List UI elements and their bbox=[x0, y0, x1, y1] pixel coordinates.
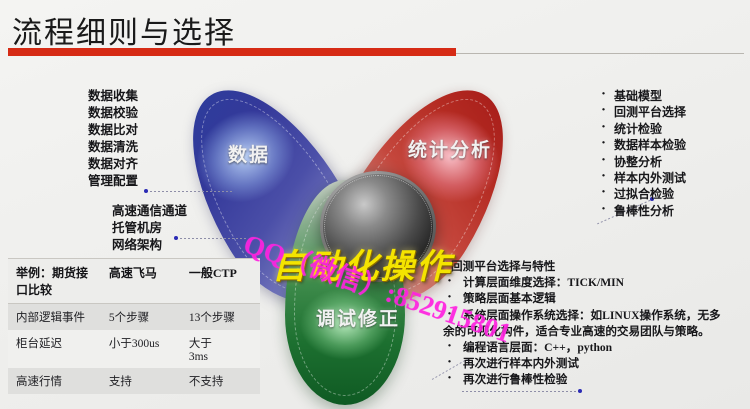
title-accent-bar bbox=[8, 48, 456, 56]
callout-network-list: 高速通信通道 托管机房 网络架构 bbox=[112, 203, 187, 254]
statistics-bullet-list: 基础模型 回测平台选择 统计检验 数据样本检验 协整分析 样本内外测试 过拟合检… bbox=[598, 88, 686, 219]
callout-statistics-item: 基础模型 bbox=[598, 88, 686, 104]
callout-statistics-item: 统计检验 bbox=[598, 121, 686, 137]
callout-network-item: 网络架构 bbox=[112, 237, 187, 254]
callout-backtest-item: 再次进行样本内外测试 bbox=[443, 356, 721, 372]
callout-data-item: 数据收集 bbox=[88, 88, 138, 105]
table-row: 柜台延迟 小于300us 大于 3ms bbox=[8, 330, 260, 368]
table-cell-ctp: 大于 3ms bbox=[181, 330, 260, 368]
callout-data-item: 管理配置 bbox=[88, 173, 138, 190]
venn-label-statistics: 统计分析 bbox=[408, 135, 492, 162]
callout-data-item: 数据清洗 bbox=[88, 139, 138, 156]
callout-data-list: 数据收集 数据校验 数据比对 数据清洗 数据对齐 管理配置 bbox=[88, 88, 138, 190]
table-col-header-ctp: 一般CTP bbox=[181, 259, 260, 304]
callout-data-item: 数据比对 bbox=[88, 122, 138, 139]
callout-data-item: 数据校验 bbox=[88, 105, 138, 122]
table-cell-feima: 支持 bbox=[101, 368, 181, 394]
callout-statistics-item: 鲁棒性分析 bbox=[598, 203, 686, 219]
slide-canvas: 流程细则与选择 数据 统计分析 调试修正 自动化操作 数据收集 数据校验 数据比… bbox=[0, 0, 750, 409]
callout-backtest-item: 再次进行鲁棒性检验 bbox=[443, 372, 721, 388]
table-cell-feima: 小于300us bbox=[101, 330, 181, 368]
callout-statistics-item: 过拟合检验 bbox=[598, 186, 686, 202]
connector-dot-backtest bbox=[578, 389, 582, 393]
callout-backtest-item: 计算层面维度选择：TICK/MIN bbox=[443, 275, 721, 291]
callout-backtest-heading: 回测平台选择与特性 bbox=[443, 259, 721, 275]
table-col-header-feima: 高速飞马 bbox=[101, 259, 181, 304]
page-title: 流程细则与选择 bbox=[12, 8, 236, 52]
table-row: 内部逻辑事件 5个步骤 13个步骤 bbox=[8, 304, 260, 331]
callout-network-item: 高速通信通道 bbox=[112, 203, 187, 220]
table-header: 举例：期货接口比较 高速飞马 一般CTP bbox=[8, 259, 260, 304]
venn-label-data: 数据 bbox=[228, 140, 270, 167]
table-cell-metric: 柜台延迟 bbox=[8, 330, 101, 368]
table-cell-ctp: 不支持 bbox=[181, 368, 260, 394]
callout-statistics-list: 基础模型 回测平台选择 统计检验 数据样本检验 协整分析 样本内外测试 过拟合检… bbox=[598, 88, 686, 219]
comparison-table: 举例：期货接口比较 高速飞马 一般CTP 内部逻辑事件 5个步骤 13个步骤 柜… bbox=[8, 258, 260, 394]
callout-statistics-item: 数据样本检验 bbox=[598, 137, 686, 153]
callout-statistics-item: 样本内外测试 bbox=[598, 170, 686, 186]
connector-line-data bbox=[146, 191, 232, 192]
callout-statistics-item: 协整分析 bbox=[598, 154, 686, 170]
table-cell-feima: 5个步骤 bbox=[101, 304, 181, 331]
table-header-row: 举例：期货接口比较 高速飞马 一般CTP bbox=[8, 259, 260, 304]
callout-statistics-item: 回测平台选择 bbox=[598, 104, 686, 120]
connector-line-backtest bbox=[462, 391, 582, 392]
table-cell-metric: 内部逻辑事件 bbox=[8, 304, 101, 331]
connector-dot-data bbox=[144, 189, 148, 193]
callout-network-item: 托管机房 bbox=[112, 220, 187, 237]
table-cell-metric: 高速行情 bbox=[8, 368, 101, 394]
table-row: 高速行情 支持 不支持 bbox=[8, 368, 260, 394]
callout-data-item: 数据对齐 bbox=[88, 156, 138, 173]
table-body: 内部逻辑事件 5个步骤 13个步骤 柜台延迟 小于300us 大于 3ms 高速… bbox=[8, 304, 260, 395]
table-cell-ctp: 13个步骤 bbox=[181, 304, 260, 331]
table-col-header-example: 举例：期货接口比较 bbox=[8, 259, 101, 304]
